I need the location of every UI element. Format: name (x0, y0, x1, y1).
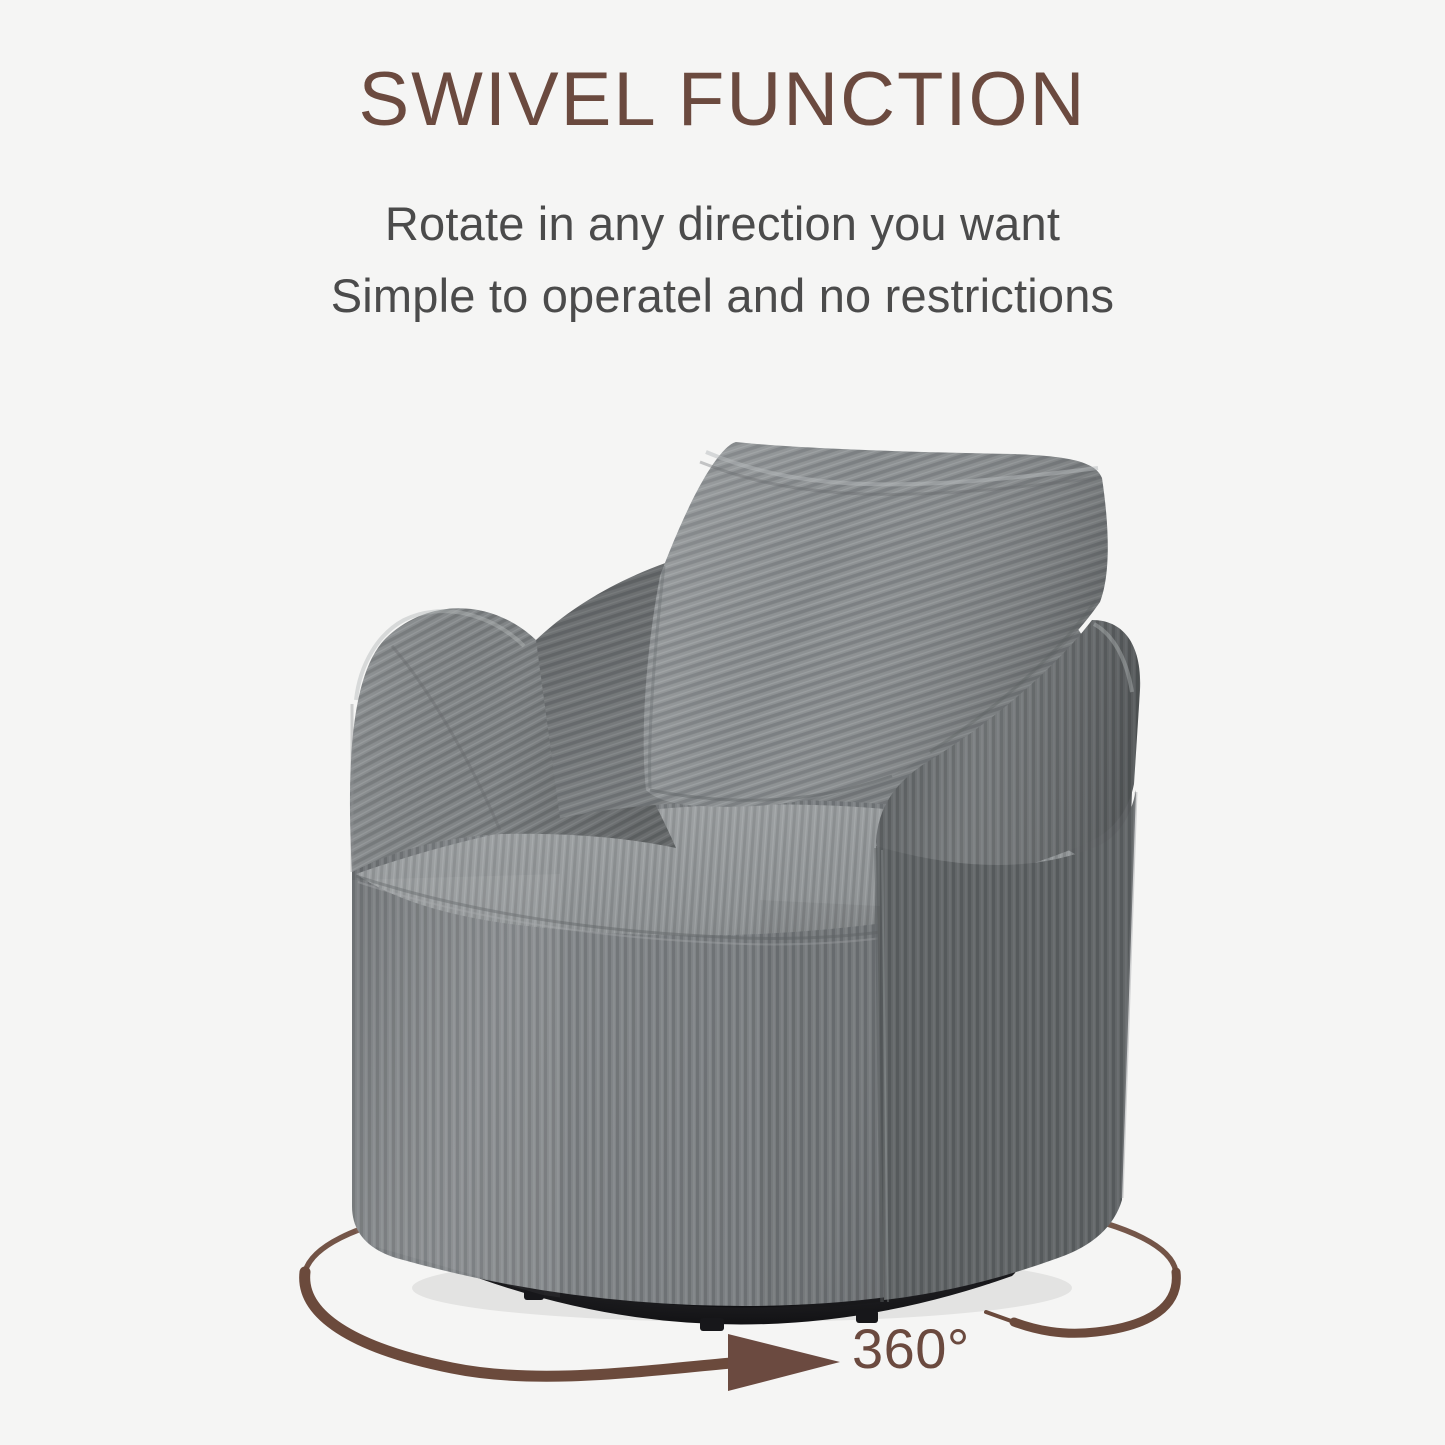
product-illustration (0, 0, 1445, 1445)
swivel-chair-graphic (350, 442, 1140, 1331)
triangle-right-icon (728, 1334, 840, 1391)
rotation-degree-label: 360° (852, 1316, 970, 1381)
product-feature-banner: SWIVEL FUNCTION Rotate in any direction … (0, 0, 1445, 1445)
